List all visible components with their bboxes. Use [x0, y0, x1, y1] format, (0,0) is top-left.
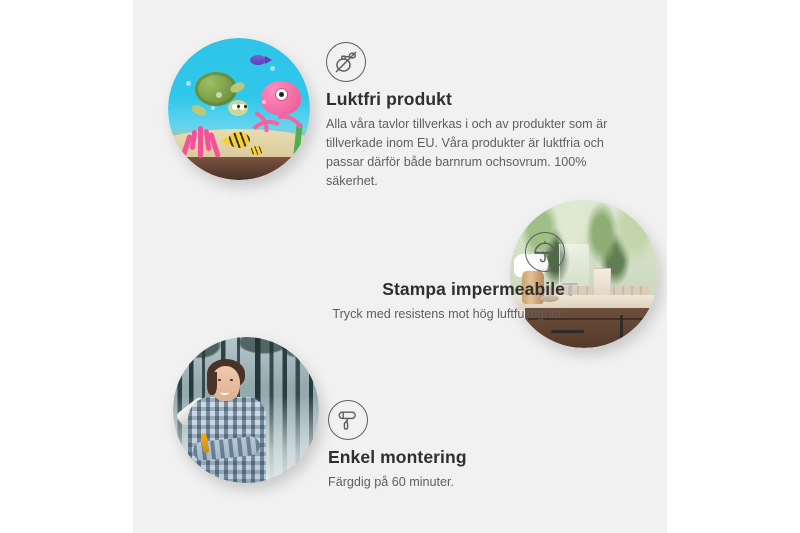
sea-bubble-3	[270, 66, 275, 71]
screenshot-root: Luktfri produkt Alla våra tavlor tillver…	[0, 0, 800, 533]
feature-waterproof: Stampa impermeabile Tryck med resistens …	[213, 232, 565, 324]
sea-bubble-2	[211, 106, 215, 110]
bath-drawer-handle	[551, 330, 584, 333]
sea-floor	[168, 157, 310, 180]
sea-coral	[182, 126, 222, 160]
paint-roller-icon	[328, 400, 368, 440]
feature-odourless-title: Luktfri produkt	[326, 89, 626, 110]
feature-waterproof-body: Tryck med resistens mot hög luftfuktighe…	[213, 305, 565, 324]
feature-easy-mounting: Enkel montering Färgdig på 60 minuter.	[328, 400, 618, 492]
feature-easy-mounting-body: Färgdig på 60 minuter.	[328, 473, 618, 492]
photo-sea-inner	[168, 38, 310, 180]
feature-odourless-body: Alla våra tavlor tillverkas i och av pro…	[326, 115, 618, 192]
sea-fish-purple	[250, 55, 266, 65]
feature-odourless: Luktfri produkt Alla våra tavlor tillver…	[326, 42, 626, 192]
bath-faucet	[569, 283, 572, 296]
bath-door-handle	[620, 315, 623, 340]
sea-turtle-flipper-left	[190, 103, 208, 118]
forest-woman-hair-side	[207, 372, 217, 395]
sea-fish-yellow	[228, 132, 250, 148]
feature-easy-mounting-title: Enkel montering	[328, 447, 618, 468]
sea-bubble-5	[186, 81, 191, 86]
photo-circle-sea	[168, 38, 310, 180]
feature-waterproof-title: Stampa impermeabile	[213, 279, 565, 300]
no-odour-spray-bottle-icon	[326, 42, 366, 82]
photo-forest-inner	[173, 337, 319, 483]
umbrella-icon	[525, 232, 565, 272]
photo-circle-forest	[173, 337, 319, 483]
content-panel: Luktfri produkt Alla våra tavlor tillver…	[133, 0, 667, 533]
